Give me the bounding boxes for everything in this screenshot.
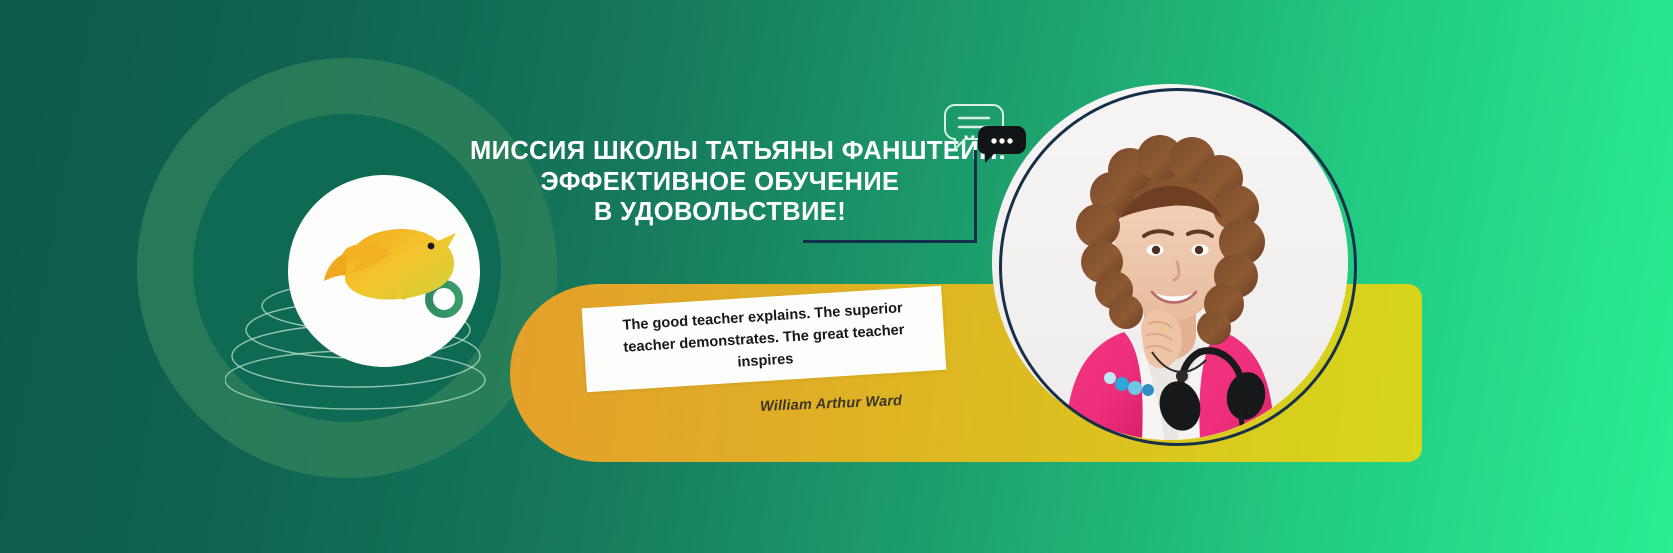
quote-text: The good teacher explains. The superior … <box>597 296 930 383</box>
portrait-ring-outline <box>999 88 1357 446</box>
title-line-2: ЭФФЕКТИВНОЕ ОБУЧЕНИЕ <box>470 167 970 198</box>
title-line-3: В УДОВОЛЬСТВИЕ! <box>470 197 970 228</box>
school-logo <box>288 175 480 367</box>
title-underline-rule <box>803 240 977 243</box>
title-line-1: МИССИЯ ШКОЛЫ ТАТЬЯНЫ ФАНШТЕЙН: <box>470 136 970 167</box>
title-vertical-rule <box>974 150 977 243</box>
bird-on-key-logo-icon <box>288 175 480 367</box>
speech-bubble-dots-icon <box>978 126 1026 163</box>
promo-banner: МИССИЯ ШКОЛЫ ТАТЬЯНЫ ФАНШТЕЙН: ЭФФЕКТИВН… <box>0 0 1673 553</box>
banner-title: МИССИЯ ШКОЛЫ ТАТЬЯНЫ ФАНШТЕЙН: ЭФФЕКТИВН… <box>470 136 970 228</box>
